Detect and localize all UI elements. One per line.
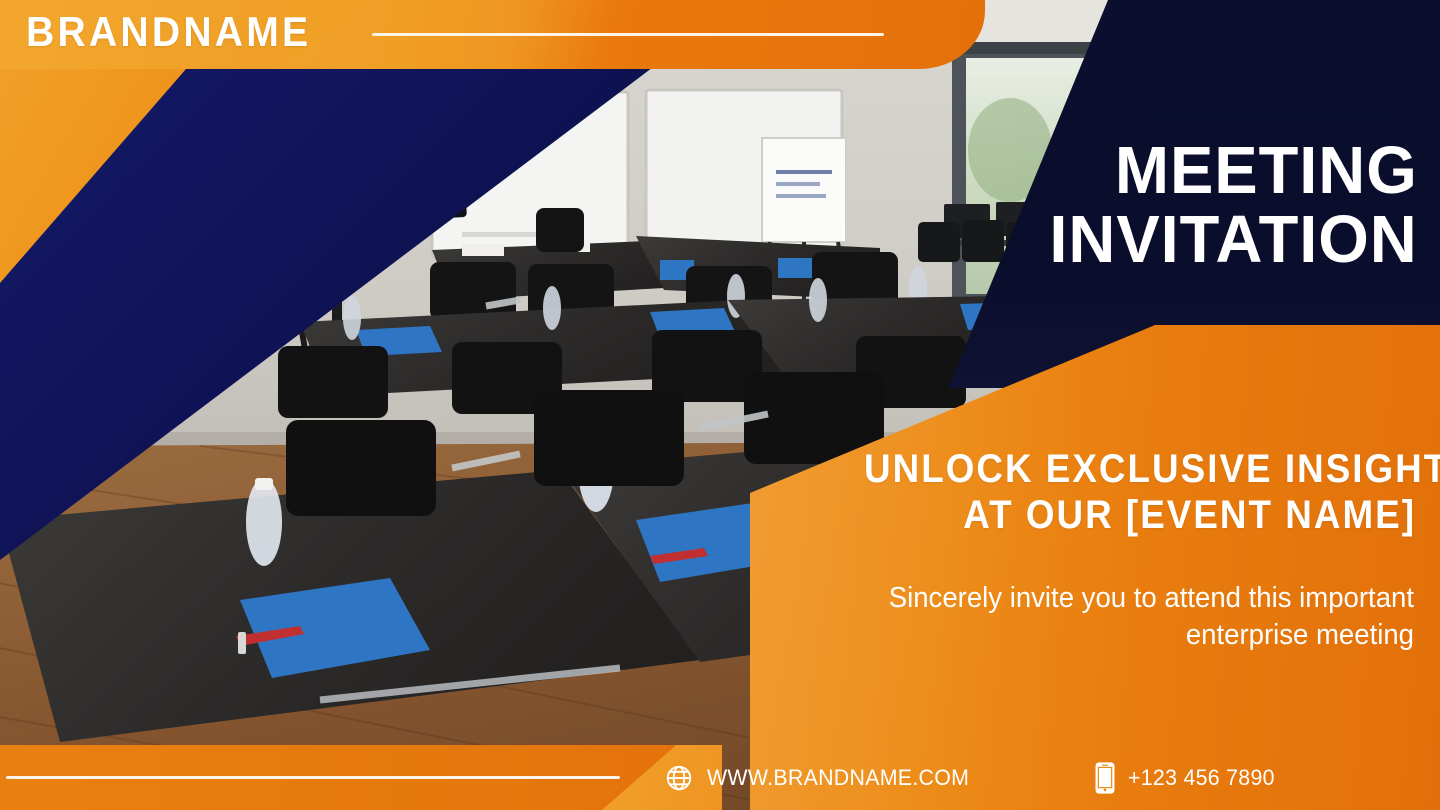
subtitle: Sincerely invite you to attend this impo… bbox=[806, 580, 1414, 653]
headline-line-1: UNLOCK EXCLUSIVE INSIGHTS bbox=[864, 446, 1416, 492]
title-line-2: INVITATION bbox=[1050, 209, 1418, 271]
website-contact[interactable]: WWW.BRANDNAME.COM bbox=[664, 763, 977, 793]
footer-divider-line bbox=[6, 776, 620, 779]
footer-contacts: WWW.BRANDNAME.COM +123 456 7890 bbox=[650, 745, 1440, 810]
subtitle-line-2: enterprise meeting bbox=[806, 617, 1414, 654]
phone-contact[interactable]: +123 456 7890 bbox=[1095, 762, 1279, 794]
brand-logo-text: BRANDNAME bbox=[26, 8, 311, 56]
meeting-invitation-poster: BRANDNAME MEETING INVITATION UNLOCK EXCL… bbox=[0, 0, 1440, 810]
title-line-1: MEETING bbox=[1050, 140, 1418, 202]
header-divider-line bbox=[372, 33, 884, 36]
page-title: MEETING INVITATION bbox=[1038, 140, 1418, 272]
headline-line-2: AT OUR [EVENT NAME] bbox=[864, 492, 1416, 538]
phone-text: +123 456 7890 bbox=[1128, 765, 1275, 791]
globe-icon bbox=[664, 763, 694, 793]
headline: UNLOCK EXCLUSIVE INSIGHTS AT OUR [EVENT … bbox=[816, 446, 1416, 539]
subtitle-line-1: Sincerely invite you to attend this impo… bbox=[806, 580, 1414, 617]
mobile-phone-icon bbox=[1095, 762, 1115, 794]
website-text: WWW.BRANDNAME.COM bbox=[707, 765, 969, 791]
